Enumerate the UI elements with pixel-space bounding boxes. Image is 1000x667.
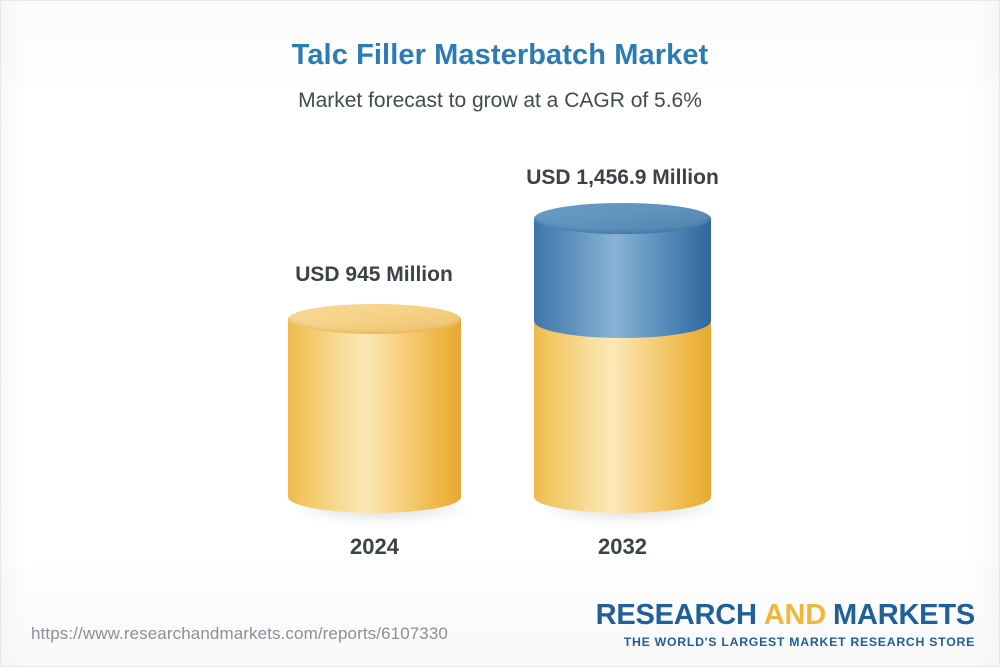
logo-word-research: RESEARCH (596, 599, 757, 631)
bar-2032-top-cap (534, 203, 711, 234)
value-label-2032: USD 1,456.9 Million (514, 166, 731, 190)
bar-2032-growth-segment (534, 218, 711, 338)
value-label-2024: USD 945 Million (274, 263, 474, 287)
plot-area: USD 945 Million 2024 USD 1,456.9 Million… (1, 1, 1000, 601)
brand-logo: RESEARCHANDMARKETS THE WORLD'S LARGEST M… (596, 601, 975, 648)
logo-tagline: THE WORLD'S LARGEST MARKET RESEARCH STOR… (596, 636, 975, 648)
bar-2032-base-segment (534, 323, 711, 513)
bar-2024[interactable] (288, 304, 461, 519)
logo-word-and: AND (764, 599, 826, 631)
year-label-2024: 2024 (276, 534, 473, 560)
chart-canvas: Talc Filler Masterbatch Market Market fo… (0, 0, 1000, 667)
bar-2024-top-cap (288, 304, 461, 334)
logo-word-markets: MARKETS (833, 599, 975, 631)
report-url[interactable]: https://www.researchandmarkets.com/repor… (31, 624, 448, 644)
bar-2032[interactable] (534, 203, 711, 519)
logo-wordmark: RESEARCHANDMARKETS (596, 601, 975, 630)
bar-2024-body (288, 318, 461, 513)
year-label-2032: 2032 (524, 534, 721, 560)
